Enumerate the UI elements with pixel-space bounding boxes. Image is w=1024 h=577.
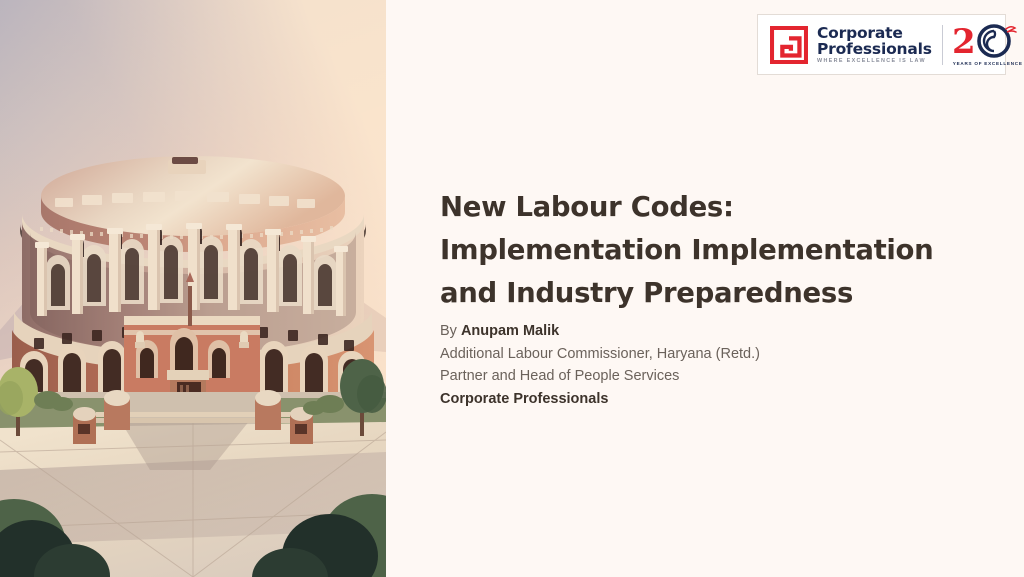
- byline-position: Partner and Head of People Services: [440, 365, 920, 388]
- corporate-professionals-g-mark-icon: [770, 26, 808, 64]
- page-title: New Labour Codes: Implementation Impleme…: [440, 186, 985, 315]
- twenty-years-icon: 2: [952, 23, 1024, 59]
- flag-mast: [188, 286, 192, 326]
- byline-prefix: By: [440, 323, 461, 339]
- anniversary-badge: 2 YEARS OF EXCELLENCE: [952, 23, 1024, 67]
- roof-lantern-cap: [172, 157, 198, 164]
- indian-parliament-building-illustration: [0, 0, 386, 577]
- gate-pillar-3: [255, 390, 281, 430]
- logo-divider: [942, 25, 943, 65]
- logo-line-professionals: Professionals: [817, 41, 932, 57]
- byline-author-name: Anupam Malik: [461, 323, 559, 339]
- byline-author-row: By Anupam Malik: [440, 320, 920, 343]
- byline-block: By Anupam Malik Additional Labour Commis…: [440, 320, 920, 410]
- entrance-door-panel-left: [180, 385, 183, 392]
- anniversary-caption: YEARS OF EXCELLENCE: [953, 61, 1023, 66]
- corporate-professionals-logo: Corporate Professionals WHERE EXCELLENCE…: [757, 14, 1006, 75]
- gate-pillar-1: [104, 390, 130, 430]
- logo-wordmark: Corporate Professionals WHERE EXCELLENCE…: [817, 25, 932, 64]
- presentation-slide: Corporate Professionals WHERE EXCELLENCE…: [0, 0, 1024, 577]
- slide-content-panel: Corporate Professionals WHERE EXCELLENCE…: [386, 0, 1024, 577]
- logo-tagline: WHERE EXCELLENCE IS LAW: [817, 59, 932, 64]
- entrance-door-panel-right: [186, 385, 189, 392]
- entrance-lintel: [167, 370, 209, 380]
- byline-role: Additional Labour Commissioner, Haryana …: [440, 343, 920, 366]
- gate-pillar-2: [73, 407, 96, 444]
- byline-organization: Corporate Professionals: [440, 388, 920, 411]
- svg-text:2: 2: [952, 23, 976, 59]
- logo-line-corporate: Corporate: [817, 25, 932, 41]
- parliament-illustration-svg: [0, 0, 386, 577]
